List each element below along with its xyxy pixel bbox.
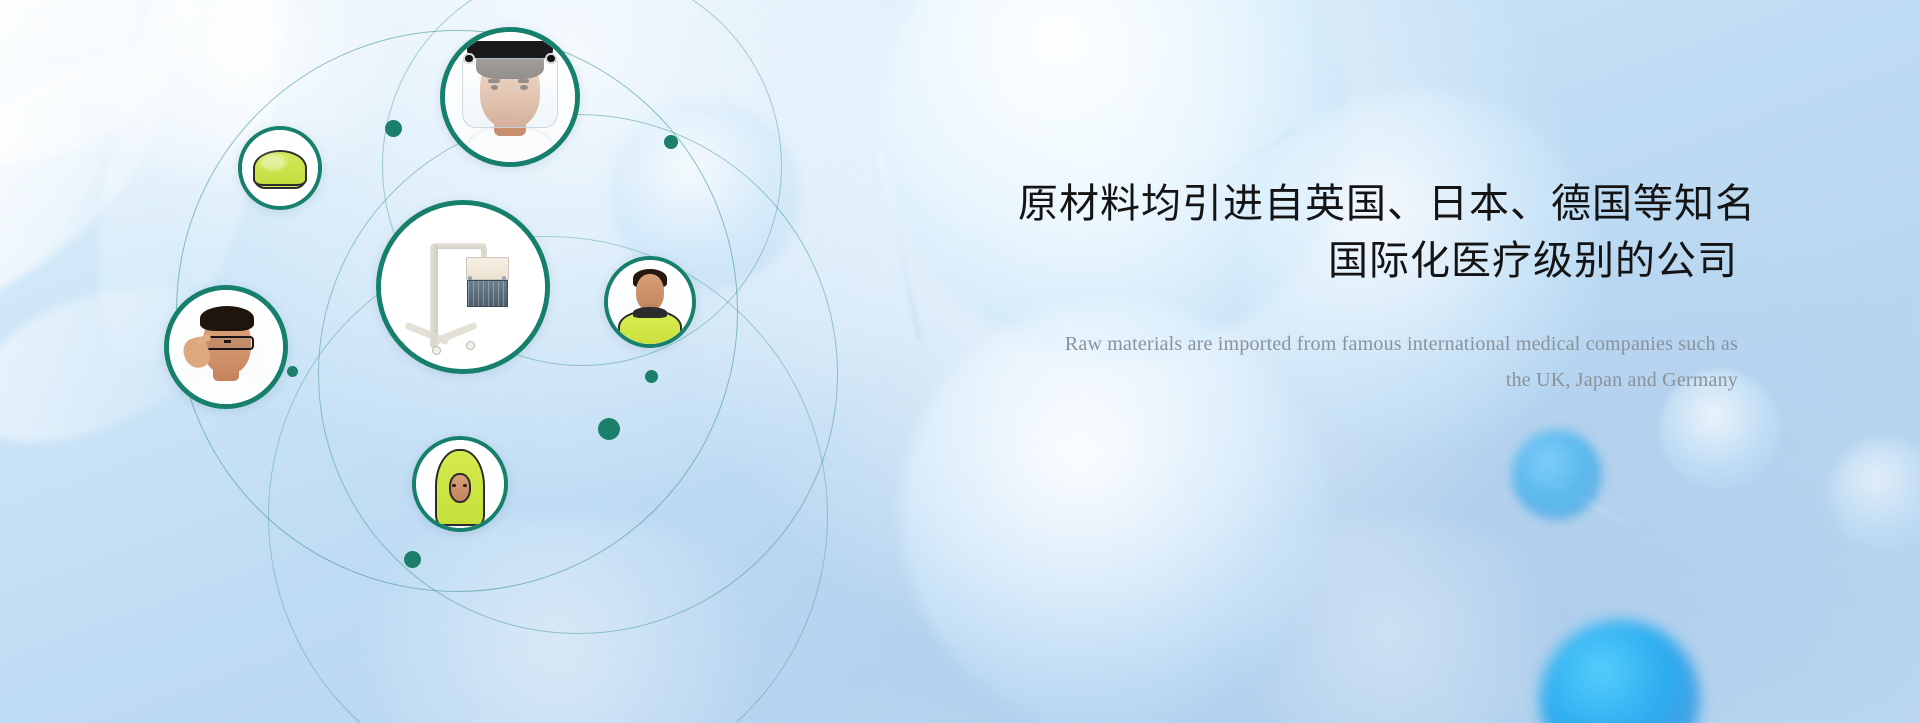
molecule-sphere-faint-far-right xyxy=(1830,440,1920,550)
product-photo-protective-hood xyxy=(416,440,504,528)
molecule-sphere-blue-mid xyxy=(1512,430,1602,520)
molecule-sphere-blue-bottom xyxy=(1540,620,1700,723)
product-photo-lead-glasses xyxy=(169,290,283,404)
accent-dot-4 xyxy=(645,370,658,383)
dna-helix-strand-1 xyxy=(0,0,240,215)
product-bubble-face-shield[interactable] xyxy=(440,27,580,167)
hero-text-block: 原材料均引进自英国、日本、德国等知名 国际化医疗级别的公司 Raw materi… xyxy=(1018,176,1738,398)
product-photo-lead-cap xyxy=(242,130,318,206)
accent-dot-5 xyxy=(598,418,620,440)
product-photo-face-shield xyxy=(445,32,575,162)
product-photo-thyroid-collar xyxy=(608,260,692,344)
product-bubble-protective-hood[interactable] xyxy=(412,436,508,532)
accent-dot-3 xyxy=(287,366,298,377)
product-bubble-thyroid-collar[interactable] xyxy=(604,256,696,348)
accent-dot-1 xyxy=(385,120,402,137)
molecule-bond-4 xyxy=(878,152,922,339)
accent-dot-6 xyxy=(404,551,421,568)
molecule-bond-3 xyxy=(1529,470,1636,529)
hero-headline: 原材料均引进自英国、日本、德国等知名 国际化医疗级别的公司 xyxy=(1018,176,1738,290)
hero-subheadline: Raw materials are imported from famous i… xyxy=(1018,326,1738,398)
hero-subheadline-line-1: Raw materials are imported from famous i… xyxy=(1018,326,1738,362)
cloud-glow-bottom-center xyxy=(1180,520,1600,723)
hero-headline-line-1: 原材料均引进自英国、日本、德国等知名 xyxy=(1018,182,1756,226)
hero-subheadline-line-2: the UK, Japan and Germany xyxy=(1018,362,1738,398)
product-bubble-lead-glasses[interactable] xyxy=(164,285,288,409)
hero-headline-line-2: 国际化医疗级别的公司 xyxy=(1018,233,1738,290)
hero-banner: 原材料均引进自英国、日本、德国等知名 国际化医疗级别的公司 Raw materi… xyxy=(0,0,1920,723)
dna-helix-strand-3 xyxy=(0,0,180,318)
accent-dot-2 xyxy=(664,135,678,149)
product-bubble-mobile-shield-stand[interactable] xyxy=(376,200,550,374)
product-photo-mobile-shield-stand xyxy=(381,205,545,369)
product-bubble-lead-cap[interactable] xyxy=(238,126,322,210)
